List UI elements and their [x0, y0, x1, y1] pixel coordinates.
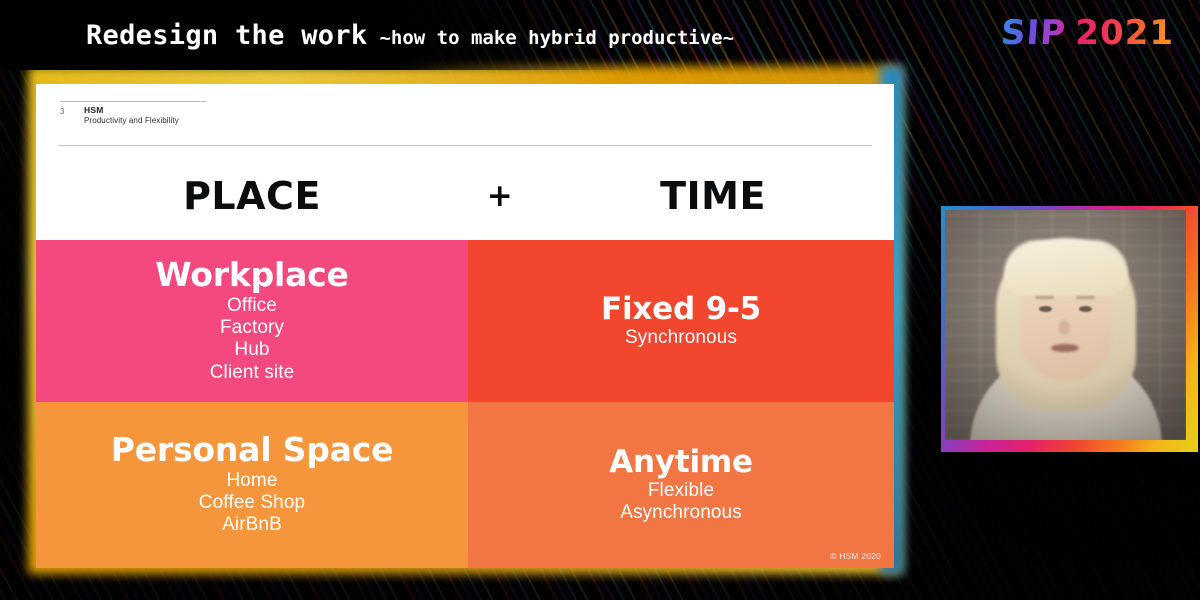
speaker-video-frame[interactable]	[945, 210, 1186, 440]
column-heading-place: PLACE	[36, 174, 468, 218]
sip-2021-logo: SIP 2021	[1001, 16, 1174, 50]
column-heading-plus: +	[468, 178, 532, 214]
quadrant-personal-space-heading: Personal Space	[111, 433, 394, 468]
list-item: Synchronous	[625, 327, 737, 349]
quadrant-personal-space-list: Home Coffee Shop AirBnB	[199, 470, 305, 537]
list-item: Office	[210, 295, 295, 317]
quadrant-anytime-list: Flexible Asynchronous	[620, 480, 742, 524]
deck-title: Redesign the work ~how to make hybrid pr…	[86, 20, 734, 51]
quadrant-workplace: Workplace Office Factory Hub Client site	[36, 240, 468, 402]
top-bar: Redesign the work ~how to make hybrid pr…	[0, 0, 1200, 70]
deck-title-main: Redesign the work	[86, 20, 367, 51]
speaker-video-tile[interactable]	[941, 206, 1198, 452]
slide-organization: HSM	[84, 105, 104, 115]
quadrant-fixed-list: Synchronous	[625, 327, 737, 349]
deck-title-subtitle: ~how to make hybrid productive~	[379, 27, 734, 49]
quadrant-workplace-list: Office Factory Hub Client site	[210, 295, 295, 384]
list-item: Asynchronous	[620, 502, 742, 524]
quadrant-workplace-heading: Workplace	[155, 258, 348, 293]
slide-section-title: Productivity and Flexibility	[84, 116, 179, 125]
quadrant-anytime: Anytime Flexible Asynchronous © HSM 2020	[468, 402, 894, 568]
shared-slide[interactable]: 3 HSM Productivity and Flexibility PLACE…	[36, 84, 894, 568]
quadrant-grid: Workplace Office Factory Hub Client site…	[36, 240, 894, 568]
column-headings: PLACE + TIME	[36, 156, 894, 240]
slide-header-rule-bottom	[58, 145, 872, 146]
presentation-stage: Redesign the work ~how to make hybrid pr…	[0, 0, 1200, 600]
slide-header: 3 HSM Productivity and Flexibility	[36, 84, 894, 156]
column-heading-time: TIME	[532, 174, 894, 218]
slide-header-rule-top	[60, 101, 206, 102]
logo-year-text: 2021	[1075, 16, 1174, 50]
slide-page-number: 3	[60, 107, 64, 116]
list-item: Client site	[210, 362, 295, 384]
list-item: Home	[199, 470, 305, 492]
list-item: Coffee Shop	[199, 492, 305, 514]
logo-sip-text: SIP	[1000, 16, 1067, 50]
list-item: Flexible	[620, 480, 742, 502]
quadrant-fixed-heading: Fixed 9-5	[601, 293, 761, 326]
quadrant-fixed: Fixed 9-5 Synchronous	[468, 240, 894, 402]
quadrant-anytime-heading: Anytime	[609, 446, 753, 479]
quadrant-personal-space: Personal Space Home Coffee Shop AirBnB	[36, 402, 468, 568]
list-item: Factory	[210, 317, 295, 339]
list-item: Hub	[210, 339, 295, 361]
slide-copyright: © HSM 2020	[830, 551, 881, 561]
list-item: AirBnB	[199, 514, 305, 536]
video-vignette	[945, 210, 1186, 440]
